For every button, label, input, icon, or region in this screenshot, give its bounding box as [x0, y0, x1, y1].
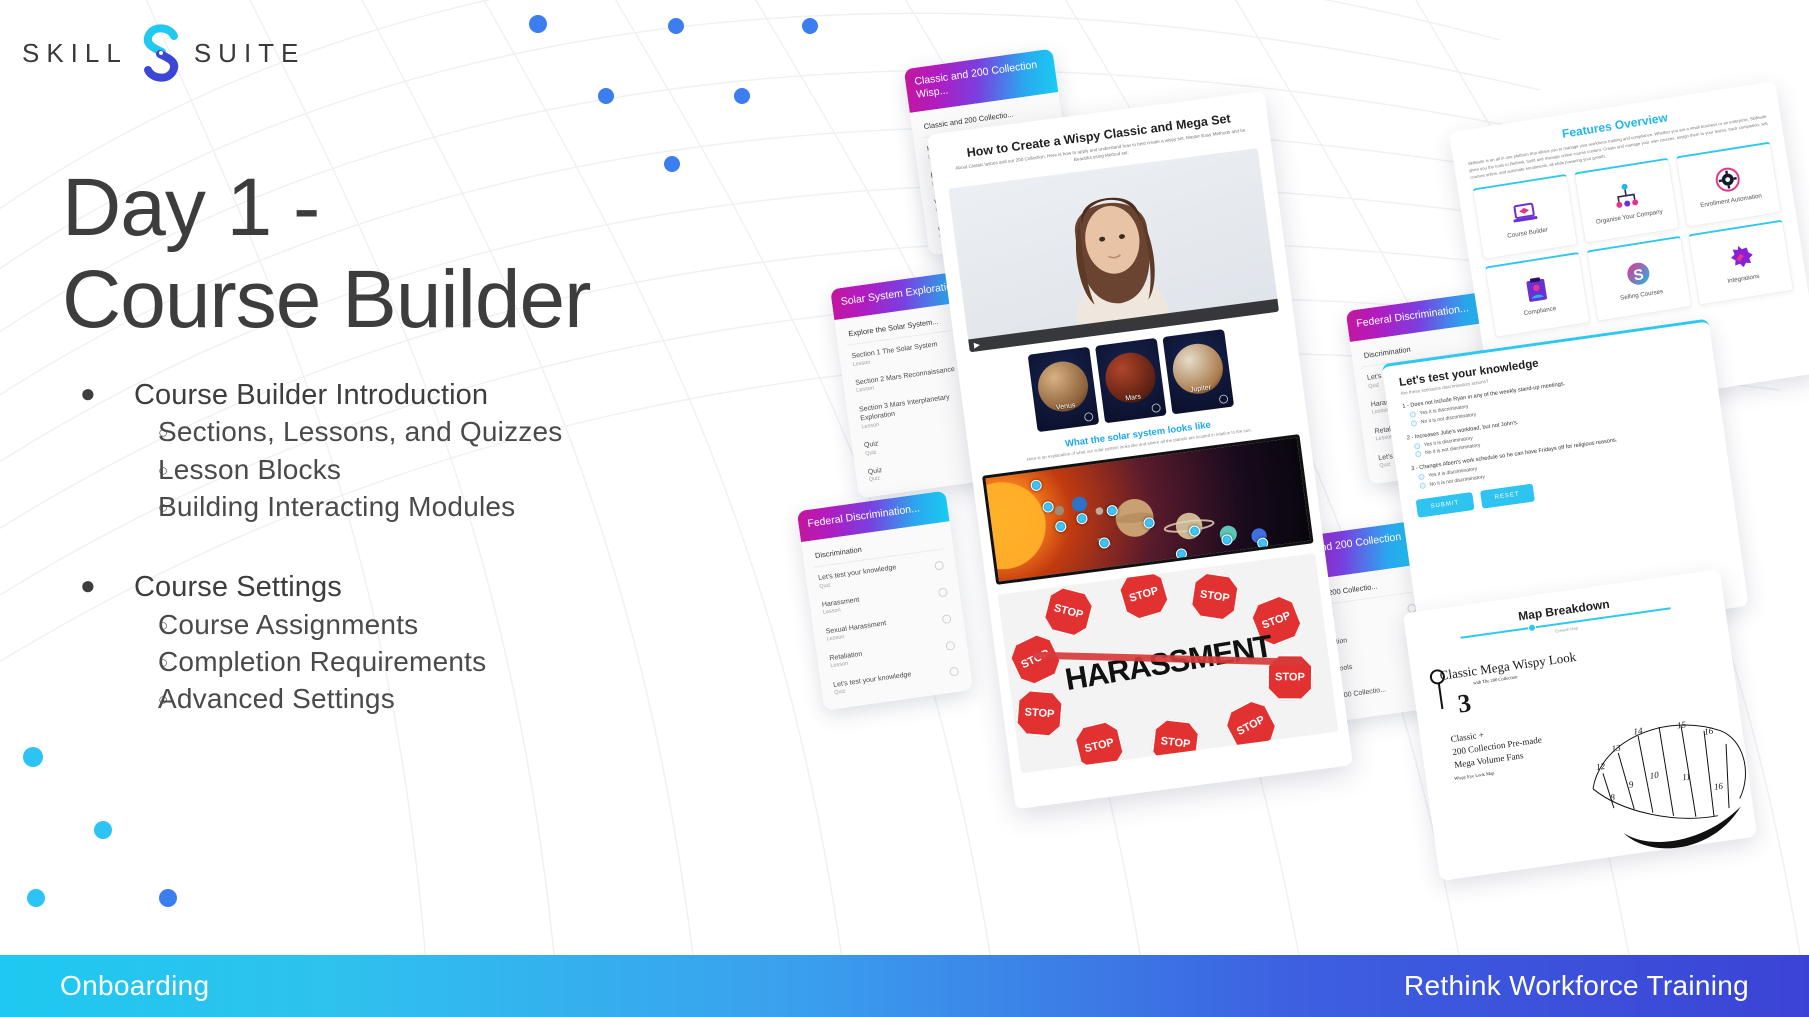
list-item-label: HarassmentLesson	[821, 596, 861, 618]
gear-circle-icon	[1713, 164, 1743, 194]
page-title: Day 1 - Course Builder	[62, 162, 590, 346]
stop-sign-icon: STOP	[1150, 718, 1201, 769]
bullet-marker: ○	[72, 489, 158, 526]
list-item-radio[interactable]	[949, 667, 959, 677]
bullet-item-level1: ●Course Builder Introduction	[72, 376, 792, 414]
gear-plug-icon	[1725, 242, 1755, 272]
list-item-sublabel: Lesson	[823, 605, 861, 618]
feature-tile[interactable]: Enrollment Automation	[1676, 142, 1782, 228]
harassment-lesson-image: STOP STOP STOP STOP STOP STOP STOP STOP …	[998, 553, 1339, 773]
skill-suite-s-mark-icon	[138, 22, 184, 84]
quiz-option-radio[interactable]	[1409, 411, 1416, 418]
clipboard-user-icon	[1522, 275, 1552, 305]
svg-text:16: 16	[1713, 781, 1724, 792]
stop-sign-icon: STOP	[1015, 689, 1064, 738]
bullet-item-level2: ○Course Assignments	[72, 607, 792, 644]
magnifier-stem	[1438, 683, 1443, 709]
presenter-photo	[1050, 169, 1177, 332]
dollar-circle-icon: S	[1623, 258, 1653, 288]
stop-sign-icon: STOP	[1189, 570, 1241, 622]
feature-tile-label: Course Builder	[1504, 225, 1552, 240]
list-item-sublabel: Quiz	[869, 475, 884, 484]
bullet-text: Sections, Lessons, and Quizzes	[158, 414, 562, 451]
bullet-text: Course Settings	[134, 568, 342, 606]
quiz-option-radio[interactable]	[1414, 442, 1421, 449]
bullet-marker: ●	[72, 568, 134, 603]
bullet-text: Lesson Blocks	[158, 452, 341, 489]
lesson-video-player[interactable]	[948, 148, 1279, 352]
org-chart-icon	[1611, 180, 1641, 210]
list-item-radio[interactable]	[942, 614, 952, 624]
stop-sign-icon: STOP	[1005, 629, 1066, 690]
feature-tile-label: Selling Courses	[1617, 287, 1667, 302]
list-item-radio[interactable]	[934, 561, 944, 571]
list-item-radio[interactable]	[945, 640, 955, 650]
quiz-option-radio[interactable]	[1415, 451, 1422, 458]
feature-tile[interactable]: Organise Your Company	[1574, 158, 1680, 244]
bullet-marker: ○	[72, 452, 158, 489]
laptop-graduation-icon	[1509, 196, 1539, 226]
quiz-option-radio[interactable]	[1419, 482, 1426, 489]
brand-logo: SKILL SUITE	[22, 22, 305, 84]
eyelash-map-diagram: 121314 1516 8910 1116	[1577, 693, 1757, 865]
planet-card[interactable]: Jupiter	[1162, 329, 1234, 414]
decorative-dot	[23, 747, 43, 767]
decorative-dot	[159, 889, 177, 907]
quiz-option-radio[interactable]	[1411, 420, 1418, 427]
quiz-reset-button[interactable]: RESET	[1480, 483, 1535, 508]
feature-tile[interactable]: Integrations	[1688, 220, 1794, 306]
feature-tile[interactable]: Course Builder	[1472, 174, 1578, 260]
bullet-marker: ○	[72, 414, 158, 451]
list-item-radio[interactable]	[938, 587, 948, 597]
list-item-label: Sexual HarassmentLesson	[825, 619, 888, 644]
list-item-sublabel: Quiz	[865, 449, 880, 458]
bullet-group-gap	[72, 526, 792, 564]
list-item-label: RetaliationLesson	[829, 649, 864, 670]
card-rows: Let's test your knowledgeQuizHarassmentL…	[814, 551, 963, 702]
feature-tile-label: Enrollment Automation	[1697, 192, 1766, 210]
bullet-text: Course Builder Introduction	[134, 376, 488, 414]
title-line-2: Course Builder	[62, 254, 590, 346]
bullet-text: Advanced Settings	[158, 681, 395, 718]
feature-tile[interactable]: SSelling Courses	[1586, 236, 1692, 322]
feature-tile-label: Compliance	[1520, 304, 1559, 318]
decorative-dot	[734, 88, 750, 104]
decorative-dot	[664, 156, 680, 172]
decorative-dot	[802, 18, 818, 34]
title-line-1: Day 1 -	[62, 162, 590, 254]
quiz-submit-button[interactable]: SUBMIT	[1416, 492, 1475, 518]
svg-text:8: 8	[1610, 792, 1616, 803]
bullet-marker: ○	[72, 644, 158, 681]
bullet-item-level2: ○Building Interacting Modules	[72, 489, 792, 526]
quiz-option-radio[interactable]	[1418, 474, 1425, 481]
planet-marker-icon[interactable]	[1219, 394, 1229, 404]
bullet-list: ●Course Builder Introduction○Sections, L…	[72, 372, 792, 719]
list-item-sublabel: Lesson	[830, 659, 864, 671]
list-item-label: QuizQuiz	[867, 466, 884, 485]
stop-sign-icon: STOP	[1040, 584, 1096, 640]
bullet-text: Course Assignments	[158, 607, 418, 644]
bullet-text: Building Interacting Modules	[158, 489, 515, 526]
bullet-item-level1: ●Course Settings	[72, 568, 792, 606]
stop-sign-icon: STOP	[1115, 566, 1172, 623]
list-item-label: QuizQuiz	[864, 439, 881, 458]
brand-name-right: SUITE	[194, 38, 306, 69]
hotspot-marker[interactable]	[1256, 537, 1268, 549]
play-icon[interactable]	[974, 342, 981, 349]
bullet-marker: ○	[72, 681, 158, 718]
bullet-item-level2: ○Completion Requirements	[72, 644, 792, 681]
svg-text:14: 14	[1633, 725, 1644, 736]
planet-marker-icon[interactable]	[1084, 412, 1094, 422]
decorative-dot	[27, 889, 45, 907]
bullet-marker: ●	[72, 376, 134, 411]
feature-tile-label: Organise Your Company	[1592, 207, 1666, 226]
feature-tile[interactable]: Compliance	[1484, 252, 1590, 338]
svg-text:15: 15	[1676, 719, 1687, 730]
bullet-item-level2: ○Lesson Blocks	[72, 452, 792, 489]
bullet-item-level2: ○Advanced Settings	[72, 681, 792, 718]
bullet-marker: ○	[72, 607, 158, 644]
screenshot-collage: Classic and 200 Collection Wisp... Class…	[860, 10, 1809, 890]
svg-text:9: 9	[1628, 779, 1634, 790]
lesson-preview-card[interactable]: How to Create a Wispy Classic and Mega S…	[927, 91, 1353, 810]
slide-footer: Onboarding Rethink Workforce Training	[0, 955, 1809, 1017]
svg-text:13: 13	[1611, 743, 1622, 754]
federal-discrimination-card-left[interactable]: Federal Discrimination... Discrimination…	[797, 491, 974, 711]
feature-tile-label: Integrations	[1724, 272, 1763, 286]
brand-name-left: SKILL	[22, 38, 128, 69]
list-item-label: Let's test your knowledgeQuiz	[833, 670, 913, 698]
svg-text:16: 16	[1703, 726, 1714, 737]
bullet-item-level2: ○Sections, Lessons, and Quizzes	[72, 414, 792, 451]
card-body: Discrimination Let's test your knowledge…	[801, 521, 973, 711]
footer-right-label: Rethink Workforce Training	[1404, 970, 1749, 1002]
footer-left-label: Onboarding	[60, 970, 209, 1002]
stop-sign-icon: STOP	[1220, 695, 1282, 757]
decorative-dot	[94, 821, 112, 839]
hotspot-marker[interactable]	[1175, 548, 1187, 560]
planet-card[interactable]: Venus	[1028, 347, 1100, 432]
svg-text:10: 10	[1649, 770, 1660, 781]
svg-text:12: 12	[1595, 761, 1606, 772]
stop-sign-icon: STOP	[1071, 718, 1126, 773]
planet-marker-icon[interactable]	[1151, 403, 1161, 413]
decorative-dot	[598, 88, 614, 104]
decorative-dot	[529, 15, 547, 33]
list-item-sublabel: Quiz	[834, 679, 913, 697]
decorative-dot	[668, 18, 684, 34]
planet-card[interactable]: Mars	[1095, 338, 1167, 423]
map-breakdown-card[interactable]: Map Breakdown Eyelash Map Classic Mega W…	[1403, 569, 1757, 881]
svg-text:11: 11	[1682, 771, 1692, 782]
bullet-text: Completion Requirements	[158, 644, 486, 681]
